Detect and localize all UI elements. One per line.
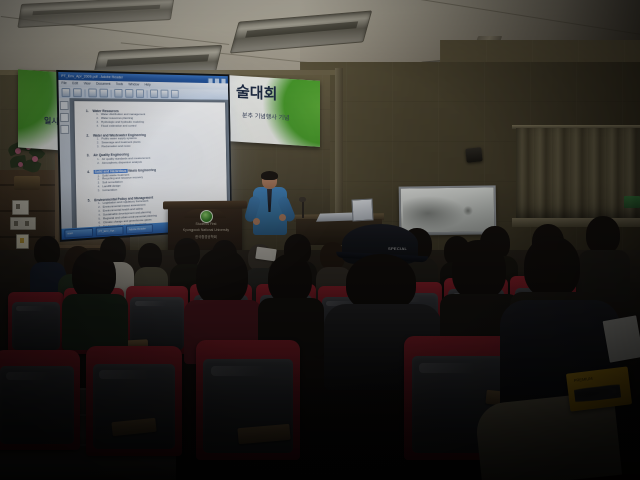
- wreath-base: [14, 176, 40, 190]
- lectern-top-surface: [163, 201, 247, 210]
- presenter-hand-right: [279, 214, 286, 221]
- product-box-artwork: [574, 383, 621, 403]
- pages-thumbnail-icon[interactable]: [60, 113, 69, 122]
- menu-item-tools[interactable]: Tools: [116, 82, 123, 86]
- white-handout: [255, 247, 276, 262]
- auditorium-photo: 2 일시 술대회 분추 기념행사 기념 PT_Env_Apr_2009.pdf …: [0, 0, 640, 480]
- outline-section: 2.Water and Wastewater Engineering 1.Pub…: [86, 132, 220, 149]
- presenter: [248, 172, 292, 244]
- zoom-in-icon[interactable]: [125, 89, 133, 98]
- auditorium-seat-foreground[interactable]: [86, 346, 182, 456]
- start-button[interactable]: start: [64, 228, 93, 239]
- microphone-head: [299, 197, 306, 202]
- light-switch-plate[interactable]: [12, 200, 29, 215]
- outline-subitem: 4.Flood estimation and control: [86, 124, 220, 128]
- menu-item-edit[interactable]: Edit: [72, 81, 78, 85]
- window-curtain[interactable]: [516, 128, 640, 220]
- baseball-cap-text: SPECIAL: [388, 246, 407, 251]
- presenter-hair: [261, 171, 278, 180]
- open-file-icon[interactable]: [61, 88, 70, 97]
- window-sill: [512, 218, 640, 227]
- lectern-text-line2: Kyungpook National University: [176, 228, 236, 233]
- menu-item-window[interactable]: Window: [128, 82, 139, 86]
- lectern-text-line1: Students First: [176, 222, 236, 227]
- taskbar-item-reader[interactable]: Adobe Reader: [126, 224, 153, 234]
- taskbar-item-pdf[interactable]: PT_Env_Apr...: [96, 226, 124, 237]
- product-box-label: PREMIUM: [573, 376, 592, 383]
- banner-right-headline: 술대회: [236, 85, 277, 104]
- menu-item-view[interactable]: View: [84, 81, 91, 85]
- menu-item-file[interactable]: File: [61, 81, 66, 85]
- bookmarks-icon[interactable]: [60, 101, 69, 110]
- whiteboard-marking: [463, 206, 473, 216]
- outline-section: 3.Air Quality Engineering 1.Air quality …: [87, 151, 221, 166]
- presenter-hand-left: [253, 218, 260, 225]
- hand-tool-icon[interactable]: [88, 88, 97, 97]
- handheld-notebook: [603, 315, 640, 362]
- outline-section-highlighted: 4.Solid and Hazardous Waste Engineering …: [87, 166, 221, 194]
- prev-page-icon[interactable]: [150, 89, 158, 98]
- next-page-icon[interactable]: [161, 90, 169, 99]
- outline-subitem: 3.Reclamation and reuse: [87, 143, 221, 149]
- control-plate[interactable]: [16, 234, 29, 249]
- menu-item-help[interactable]: Help: [144, 83, 150, 87]
- product-box[interactable]: PREMIUM: [566, 366, 632, 411]
- fit-page-icon[interactable]: [136, 89, 144, 98]
- laptop-screen: [351, 198, 373, 221]
- banner-right-subline: 분추 기념행사 기념: [242, 110, 290, 122]
- select-tool-icon[interactable]: [99, 89, 108, 98]
- microphone-stand: [302, 200, 304, 218]
- exit-sign: [624, 196, 640, 208]
- outline-section: 1.Water Resources 1.Water distribution a…: [86, 109, 220, 129]
- outline-subitem: 2.Atmospheric dispersion analysis: [87, 159, 221, 166]
- print-icon[interactable]: [73, 88, 82, 97]
- attachments-icon[interactable]: [60, 125, 69, 134]
- wall-loudspeaker: [465, 147, 482, 163]
- banner-right: 술대회 분추 기념행사 기념: [228, 75, 320, 147]
- menu-item-document[interactable]: Document: [96, 82, 110, 86]
- outlet-plate[interactable]: [10, 217, 36, 230]
- zoom-out-icon[interactable]: [114, 89, 122, 98]
- pdf-window-title: PT_Env_Apr_2009.pdf - Adobe Reader: [61, 74, 123, 79]
- whiteboard-shadow: [403, 196, 465, 231]
- search-icon[interactable]: [171, 90, 179, 99]
- auditorium-seat[interactable]: [8, 292, 64, 354]
- auditorium-seat-foreground[interactable]: [0, 350, 80, 450]
